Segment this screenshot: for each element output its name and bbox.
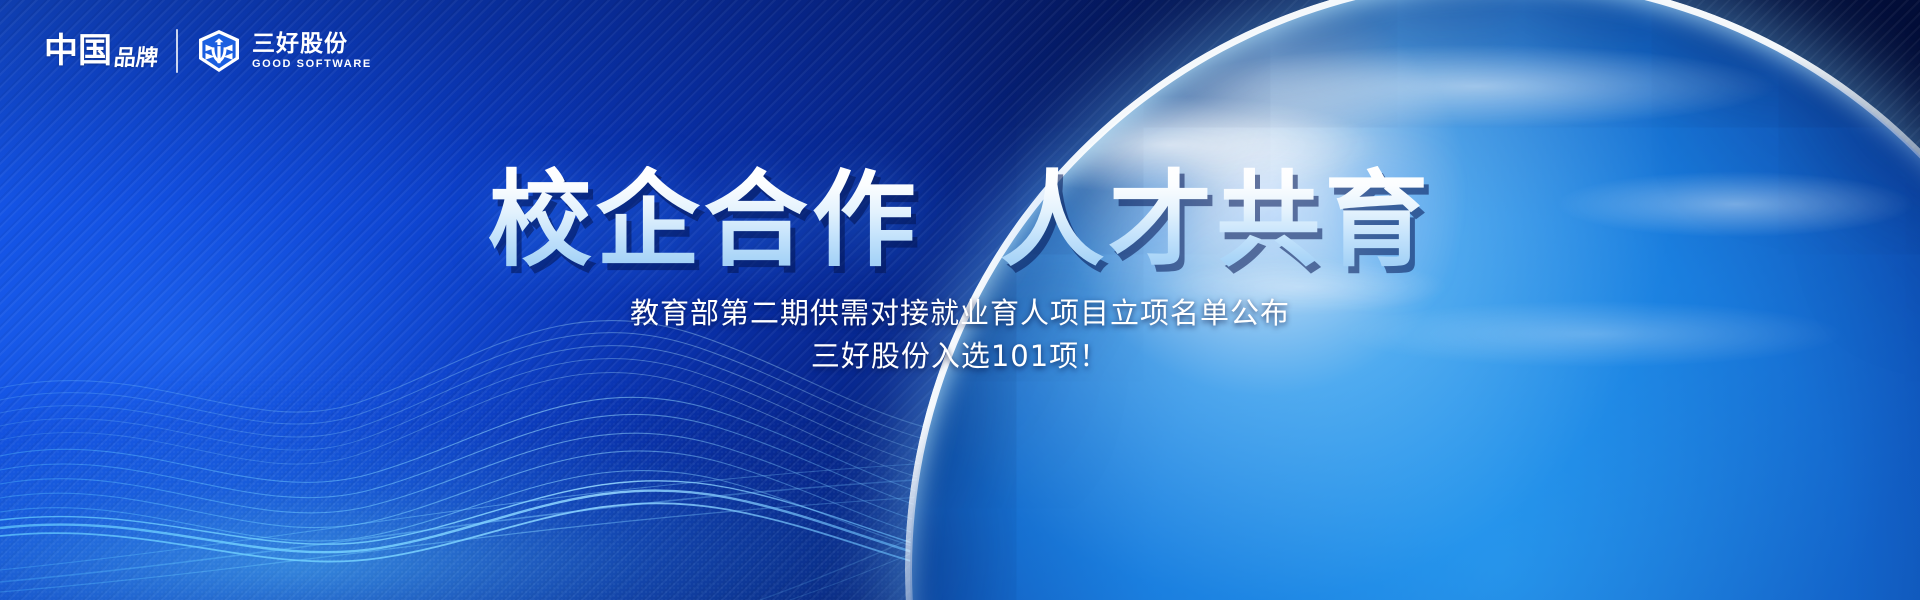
- promo-banner: 中国 品牌 三好股份 GOOD SOFTWARE 校企合作 人才共育: [0, 0, 1920, 600]
- subtitle-line-2: 三好股份入选101项！: [0, 335, 1920, 378]
- company-logo-text: 三好股份 GOOD SOFTWARE: [252, 33, 372, 70]
- company-name-cn: 三好股份: [252, 33, 372, 56]
- subtitle-block: 教育部第二期供需对接就业育人项目立项名单公布 三好股份入选101项！: [0, 292, 1920, 378]
- sanhao-shield-logo-mark-icon: [196, 28, 242, 74]
- china-brand-secondary-text: 品牌: [113, 47, 159, 69]
- headline-title: 校企合作 人才共育: [0, 166, 1920, 275]
- subtitle-line-1: 教育部第二期供需对接就业育人项目立项名单公布: [0, 292, 1920, 335]
- logo-divider: [176, 29, 178, 73]
- china-brand-primary-text: 中国: [44, 34, 112, 68]
- china-brand-logo[interactable]: 中国 品牌: [44, 34, 158, 68]
- wave-glow: [0, 390, 1080, 600]
- logo-lockup[interactable]: 中国 品牌 三好股份 GOOD SOFTWARE: [44, 24, 372, 78]
- company-name-en: GOOD SOFTWARE: [252, 59, 372, 70]
- company-logo[interactable]: 三好股份 GOOD SOFTWARE: [196, 28, 372, 74]
